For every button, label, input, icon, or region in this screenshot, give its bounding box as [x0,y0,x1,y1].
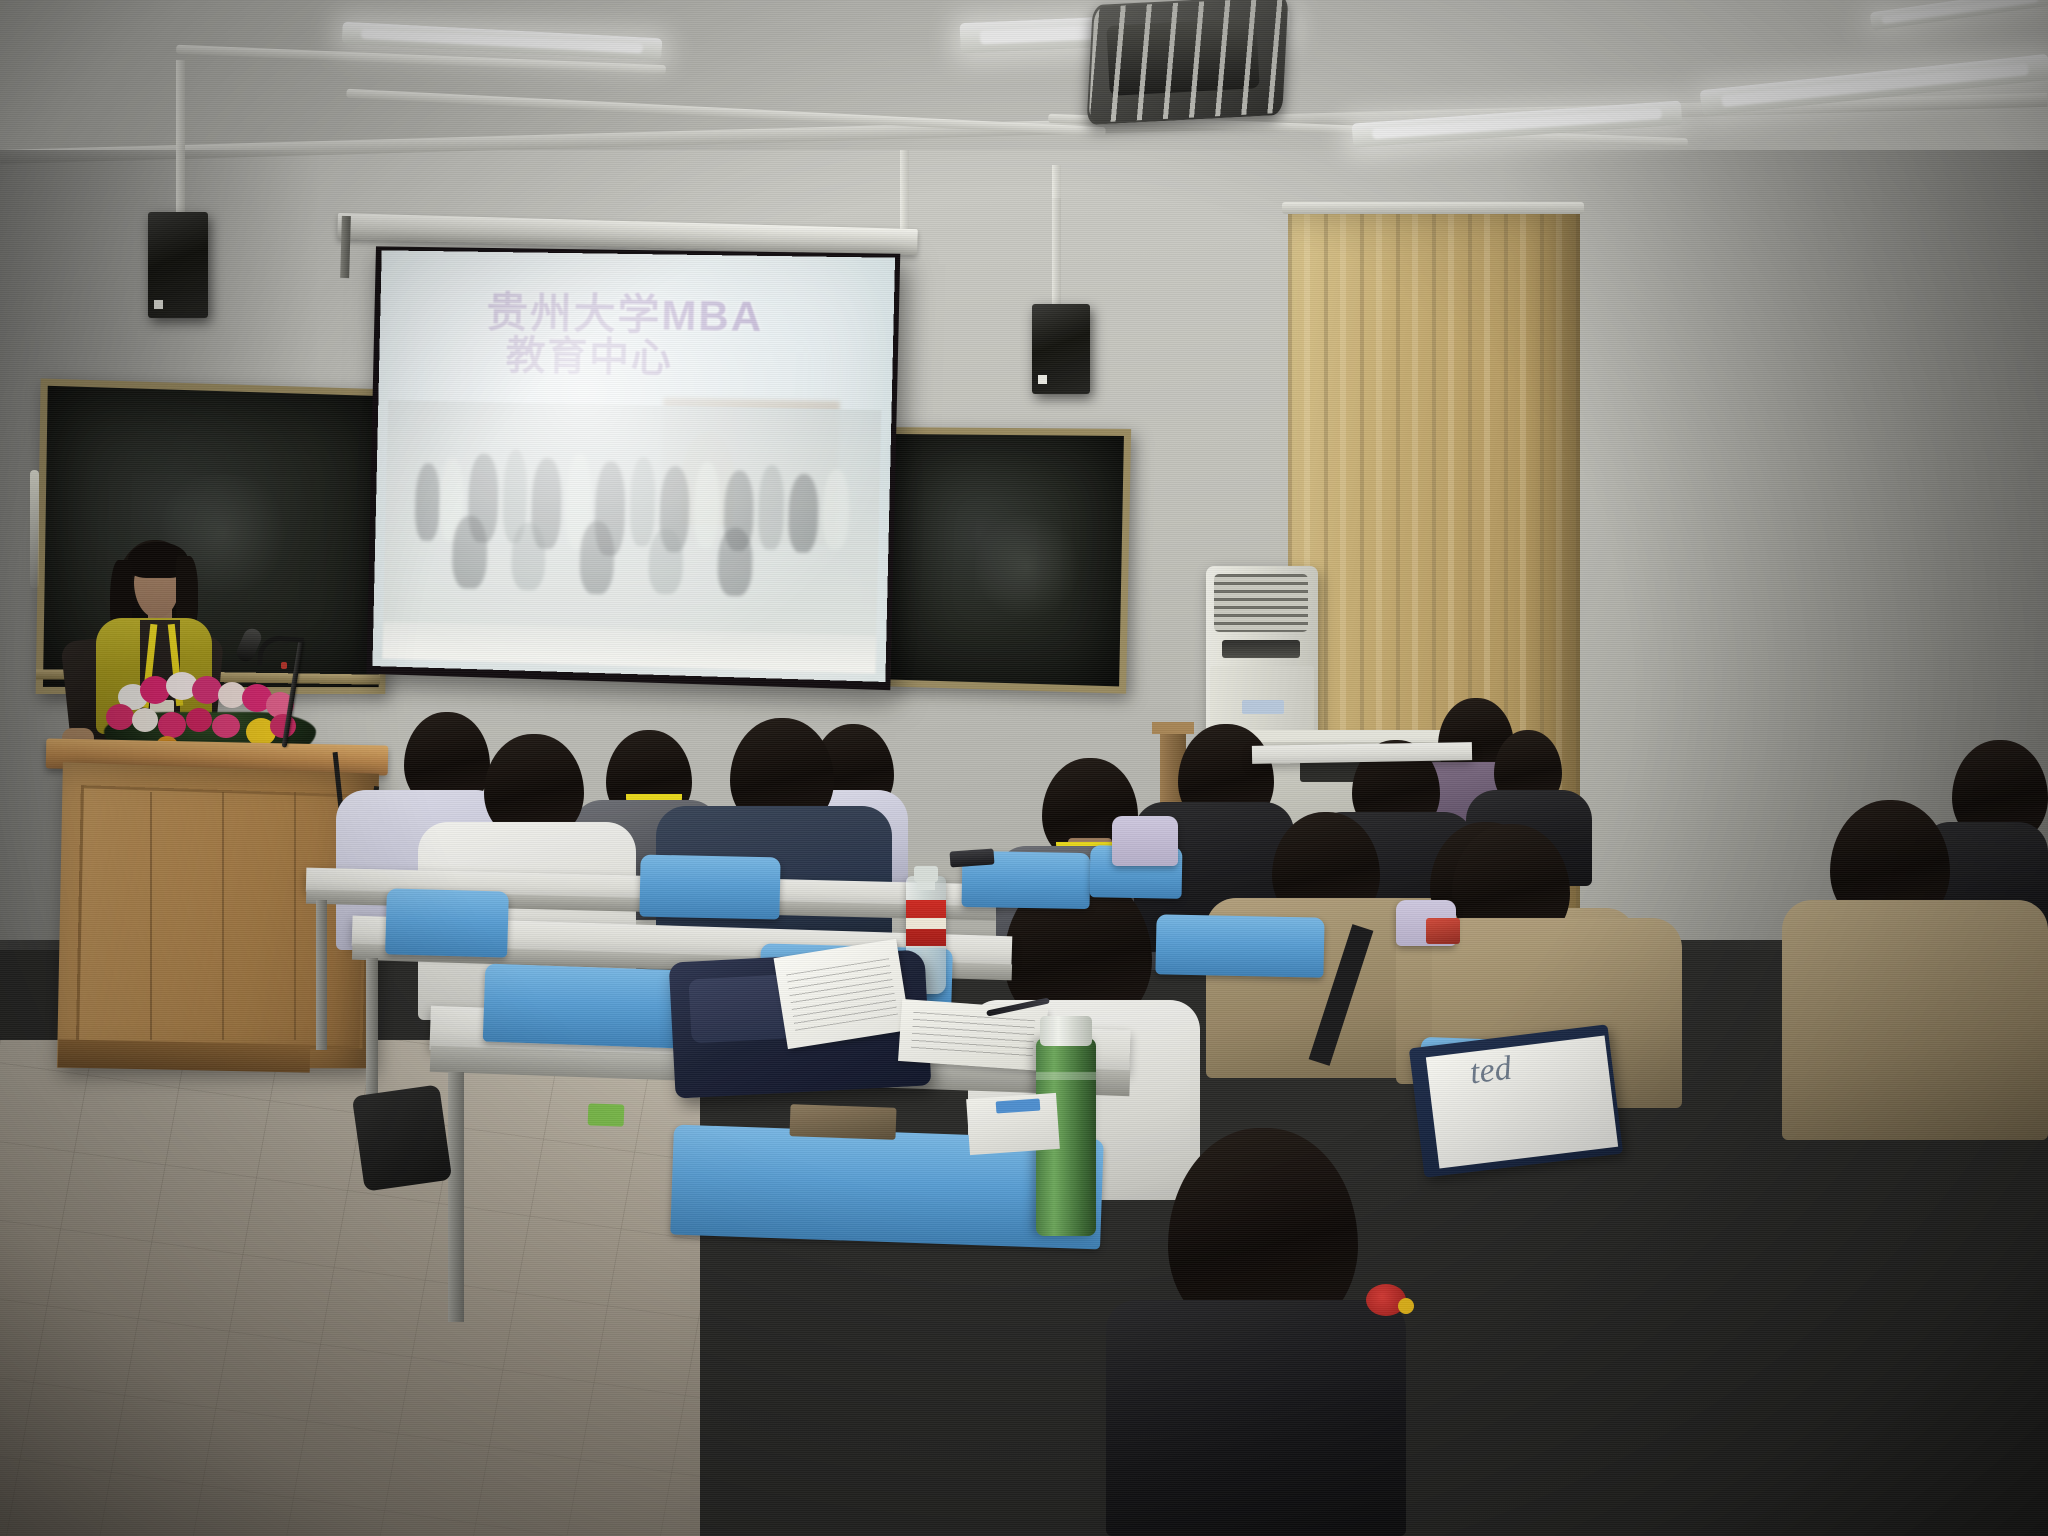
air-conditioner-grille [1214,574,1308,632]
attendee-right-edge-2 [1782,900,2048,1140]
flower-petal [158,712,186,738]
water-bottle-cap[interactable] [914,866,938,882]
screen-bracket [340,216,351,278]
projection-screen: 贵州大学MBA 教育中心 [372,250,895,682]
speaker-right-rod [1052,198,1061,306]
flower-petal [106,704,134,730]
desk-right [1252,742,1472,764]
book-on-desk[interactable] [789,1104,896,1140]
podium-groove [294,792,296,1040]
chair-seat-back [385,888,509,957]
cabinet-top [1250,730,1464,742]
blackboard-right [884,427,1132,694]
attendee-foreground-woman [1106,1300,1406,1536]
clipboard-label: ted [1468,1050,1514,1093]
air-conditioner-panel[interactable] [1222,640,1300,658]
clipboard-paper [1426,1035,1618,1168]
water-bottle-label-stripe [906,918,946,929]
paper-sheet-2[interactable] [898,999,1048,1071]
projector-cage-bars [1089,0,1288,123]
chair-seat-back-pale [1112,816,1178,866]
air-conditioner-sticker [1242,700,1284,714]
wall-speaker-left [148,212,208,318]
bag-on-floor[interactable] [352,1084,453,1191]
flower-petal [192,676,222,704]
desk-leg [316,900,327,1050]
wall-speaker-right [1032,304,1090,394]
hair-clip-bead [1398,1298,1414,1314]
desk-leg [448,1072,464,1322]
thermos-cap[interactable] [1040,1016,1092,1046]
thermos-band [1036,1072,1096,1080]
wooden-post-cap [1152,722,1194,734]
flower-petal [212,714,240,738]
microphone-led-icon [281,662,287,669]
paper-sheet-1[interactable] [774,939,911,1049]
flower-petal [132,708,158,732]
mobile-phone[interactable] [949,848,994,867]
sticker-green [588,1103,625,1126]
chair-seat-back [639,855,780,920]
curtain-rod [1282,202,1584,214]
flower-petal [186,708,212,732]
red-item-on-desk [1426,918,1460,944]
screen-glow [372,250,895,682]
flower-petal [140,676,170,704]
podium-groove [150,792,152,1040]
conduit-drop-center [900,150,909,232]
podium-groove [222,792,224,1040]
speaker-left-rod [176,150,185,216]
blackboard-left-highlight [30,470,39,588]
chair-seat-back [1155,914,1324,978]
podium-base [58,1039,311,1072]
classroom-photo: 贵州大学MBA 教育中心 [0,0,2048,1536]
